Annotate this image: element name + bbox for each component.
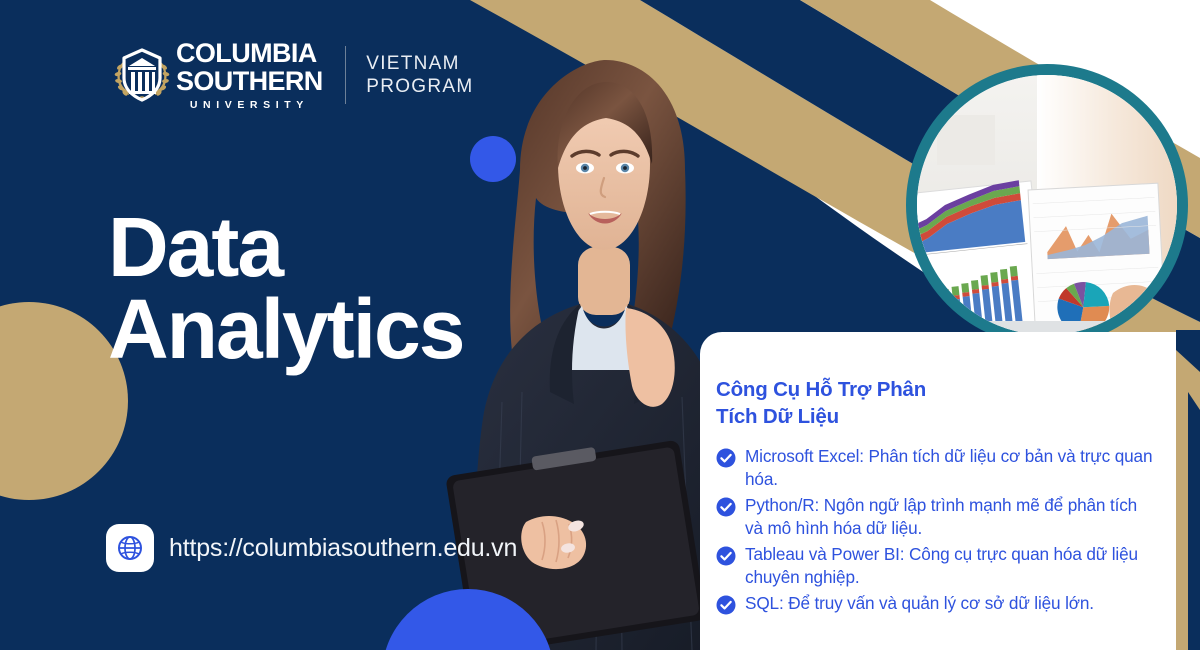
check-circle-icon [716, 546, 736, 566]
logo-line-columbia: COLUMBIA [176, 40, 323, 67]
tools-bullet-item: Python/R: Ngôn ngữ lập trình mạnh mẽ để … [716, 494, 1158, 540]
program-label: VIETNAM PROGRAM [366, 52, 473, 98]
tools-bullet-item: SQL: Để truy vấn và quản lý cơ sở dữ liệ… [716, 592, 1158, 615]
tools-bullet-item: Microsoft Excel: Phân tích dữ liệu cơ bả… [716, 445, 1158, 491]
columbia-southern-crest-icon [112, 45, 172, 105]
tools-bullet-text: SQL: Để truy vấn và quản lý cơ sở dữ liệ… [745, 592, 1094, 615]
tools-bullet-item: Tableau và Power BI: Công cụ trực quan h… [716, 543, 1158, 589]
headline-line-2: Analytics [108, 288, 464, 370]
program-line-program: PROGRAM [366, 75, 473, 98]
check-circle-icon [716, 448, 736, 468]
headline-line-1: Data [108, 206, 464, 288]
brand-wordmark: COLUMBIA SOUTHERN UNIVERSITY [176, 40, 323, 111]
page-title: Data Analytics [108, 206, 464, 371]
logo-line-university: UNIVERSITY [176, 100, 323, 111]
check-circle-icon [716, 497, 736, 517]
banner-canvas: COLUMBIA SOUTHERN UNIVERSITY VIETNAM PRO… [0, 0, 1200, 650]
tools-bullet-text: Microsoft Excel: Phân tích dữ liệu cơ bả… [745, 445, 1158, 491]
tools-bullet-list: Microsoft Excel: Phân tích dữ liệu cơ bả… [716, 445, 1158, 615]
logo-line-southern: SOUTHERN [176, 68, 323, 95]
tools-panel: Công Cụ Hỗ Trợ PhânTích Dữ Liệu Microsof… [700, 332, 1176, 650]
brand-logo[interactable]: COLUMBIA SOUTHERN UNIVERSITY VIETNAM PRO… [112, 40, 474, 111]
tools-panel-title: Công Cụ Hỗ Trợ PhânTích Dữ Liệu [716, 376, 966, 431]
tools-bullet-text: Python/R: Ngôn ngữ lập trình mạnh mẽ để … [745, 494, 1158, 540]
analytics-dashboard-circle [906, 64, 1188, 346]
tools-panel-title-line2: Tích Dữ Liệu [716, 405, 839, 428]
website-url-text[interactable]: https://columbiasouthern.edu.vn [169, 534, 517, 563]
analytics-dashboard-photo [917, 75, 1177, 335]
tools-bullet-text: Tableau và Power BI: Công cụ trực quan h… [745, 543, 1158, 589]
check-circle-icon [716, 595, 736, 615]
globe-icon [106, 524, 154, 572]
program-line-vietnam: VIETNAM [366, 52, 473, 75]
tools-panel-title-line1: Công Cụ Hỗ Trợ Phân [716, 378, 926, 401]
website-link[interactable]: https://columbiasouthern.edu.vn [106, 524, 517, 572]
logo-divider [345, 46, 347, 104]
